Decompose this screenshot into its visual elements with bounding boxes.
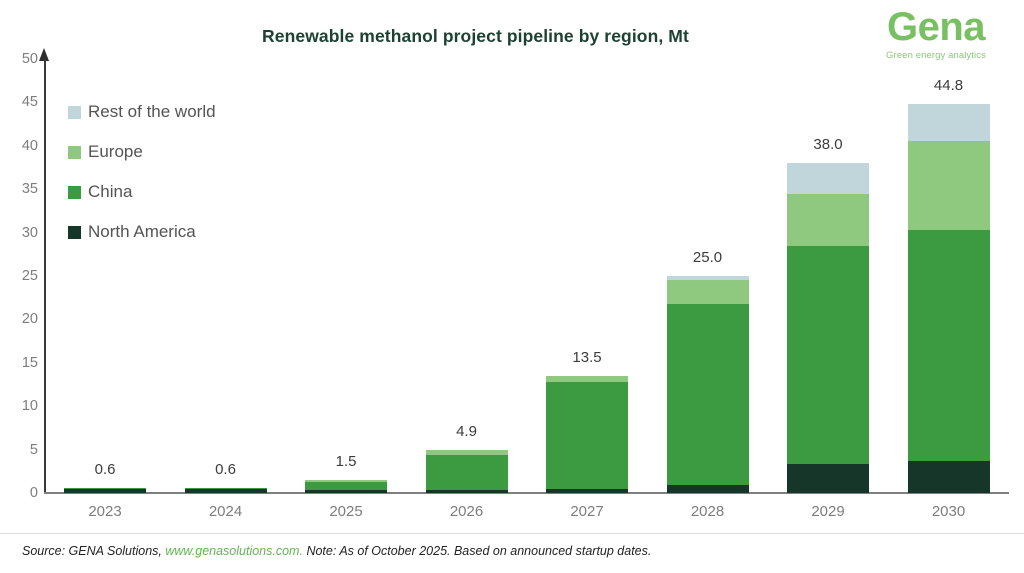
bar-total-label: 1.5 (336, 453, 357, 470)
bar-total-label: 38.0 (813, 136, 842, 153)
legend-item[interactable]: Rest of the world (68, 92, 308, 132)
bar-stack[interactable] (908, 104, 990, 493)
bar-segment[interactable] (667, 485, 749, 493)
bar-stack[interactable] (787, 163, 869, 493)
chart-plot-area: 05101520253035404550 0.620230.620241.520… (0, 0, 1024, 540)
x-tick-label: 2030 (932, 503, 965, 520)
bar-segment[interactable] (787, 163, 869, 193)
legend-swatch-icon (68, 226, 81, 239)
bar-total-label: 25.0 (693, 249, 722, 266)
bar-segment[interactable] (426, 455, 508, 490)
legend-item[interactable]: China (68, 172, 308, 212)
bar-stack[interactable] (426, 450, 508, 493)
x-tick-label: 2027 (570, 503, 603, 520)
legend-label: Europe (88, 142, 143, 162)
bar-stack[interactable] (546, 376, 628, 493)
footnote: Source: GENA Solutions, www.genasolution… (22, 544, 651, 558)
footer-divider (0, 533, 1024, 534)
chart-title: Renewable methanol project pipeline by r… (262, 26, 689, 47)
legend-label: China (88, 182, 132, 202)
bar-stack[interactable] (185, 488, 267, 493)
bar-total-label: 0.6 (95, 461, 116, 478)
bar-segment[interactable] (787, 194, 869, 246)
bar-segment[interactable] (667, 304, 749, 485)
legend-swatch-icon (68, 186, 81, 199)
x-tick-label: 2024 (209, 503, 242, 520)
legend-label: North America (88, 222, 196, 242)
bar-total-label: 4.9 (456, 423, 477, 440)
bar-segment[interactable] (185, 489, 267, 493)
legend-swatch-icon (68, 146, 81, 159)
bar-segment[interactable] (787, 464, 869, 494)
x-tick-label: 2023 (88, 503, 121, 520)
bar-stack[interactable] (64, 488, 146, 493)
bar-stack[interactable] (305, 480, 387, 493)
footnote-note: Note: As of October 2025. Based on annou… (306, 544, 651, 558)
x-tick-label: 2028 (691, 503, 724, 520)
legend-label: Rest of the world (88, 102, 216, 122)
bar-total-label: 44.8 (934, 77, 963, 94)
bar-segment[interactable] (546, 489, 628, 493)
bar-segment[interactable] (64, 489, 146, 493)
source-link[interactable]: www.genasolutions.com. (165, 544, 303, 558)
chart-legend: Rest of the worldEuropeChinaNorth Americ… (68, 92, 308, 252)
bar-segment[interactable] (908, 230, 990, 461)
x-tick-label: 2025 (329, 503, 362, 520)
bar-total-label: 0.6 (215, 461, 236, 478)
bar-segment[interactable] (305, 482, 387, 491)
legend-item[interactable]: North America (68, 212, 308, 252)
legend-item[interactable]: Europe (68, 132, 308, 172)
bar-segment[interactable] (426, 490, 508, 493)
footnote-source-prefix: Source: GENA Solutions, (22, 544, 162, 558)
bar-segment[interactable] (908, 461, 990, 493)
brand-logo: Gena Green energy analytics (870, 8, 1002, 61)
bar-segment[interactable] (787, 246, 869, 464)
brand-tagline: Green energy analytics (870, 50, 1002, 61)
legend-swatch-icon (68, 106, 81, 119)
bar-segment[interactable] (546, 382, 628, 489)
bar-segment[interactable] (305, 490, 387, 493)
bar-segment[interactable] (667, 280, 749, 303)
x-tick-label: 2026 (450, 503, 483, 520)
x-tick-label: 2029 (811, 503, 844, 520)
bar-stack[interactable] (667, 276, 749, 493)
bar-segment[interactable] (908, 104, 990, 140)
bar-segment[interactable] (908, 141, 990, 230)
brand-wordmark: Gena (870, 8, 1002, 47)
bar-total-label: 13.5 (572, 349, 601, 366)
